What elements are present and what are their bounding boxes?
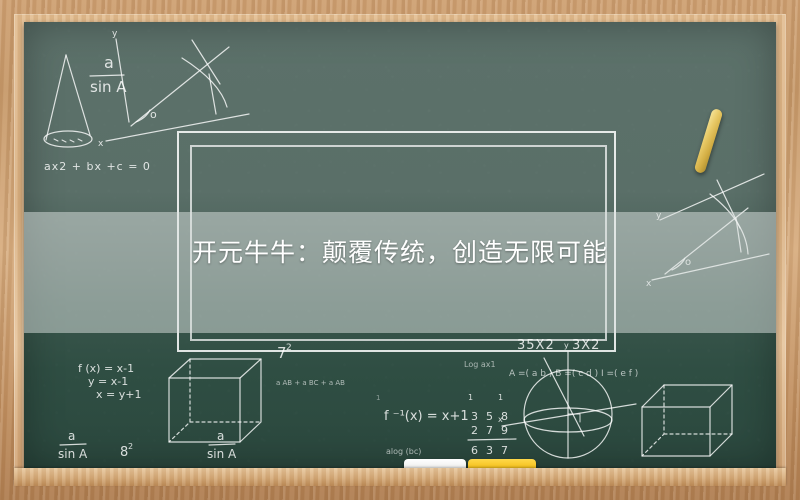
axis-label-y-top: y <box>112 29 118 39</box>
fraction3-denominator: sin A <box>207 447 237 461</box>
banner-image: a sin A ax2 + bx +c = 0 y x o <box>0 0 800 500</box>
function-line-3: x = y+1 <box>96 388 141 401</box>
fraction2-numerator: a <box>68 429 75 443</box>
log-label: Log ax1 <box>464 360 496 369</box>
small-expression: a AB + a BC + a AB <box>276 379 345 387</box>
title-container: 开元牛牛：颠覆传统，创造无限可能 <box>0 190 800 311</box>
cube-right <box>642 385 732 456</box>
svg-text:5: 5 <box>486 410 493 423</box>
angle-label-top: o <box>150 108 157 121</box>
svg-text:3: 3 <box>471 410 478 423</box>
sphere-axis-x: x <box>498 415 503 424</box>
log-expression: alog (bc) <box>386 447 421 456</box>
cone-shape <box>44 55 92 147</box>
svg-text:7: 7 <box>486 424 493 437</box>
quadratic-equation: ax2 + bx +c = 0 <box>44 160 151 173</box>
fraction-numerator-a: a <box>104 53 114 72</box>
fraction2-denominator: sin A <box>58 447 88 461</box>
matrix-notation: A =( a b ) B =( c d ) I =( e f ) <box>509 369 638 379</box>
svg-text:3: 3 <box>486 444 493 457</box>
svg-text:1: 1 <box>498 393 503 402</box>
chalk-tray-ledge <box>14 468 786 486</box>
axis-label-x-top: x <box>98 139 104 149</box>
svg-text:6: 6 <box>471 444 478 457</box>
coordinate-axes-top <box>106 39 249 141</box>
function-line-1: f (x) = x-1 <box>78 362 134 375</box>
function-line-2: y = x-1 <box>88 375 128 388</box>
svg-text:1: 1 <box>468 393 473 402</box>
fraction3-numerator: a <box>217 429 224 443</box>
inverse-function: f ⁻¹(x) = x+1 <box>384 409 469 424</box>
cube-left <box>169 359 261 442</box>
power-8-exponent: 2 <box>128 442 133 451</box>
svg-text:1: 1 <box>376 394 380 402</box>
page-title: 开元牛牛：颠覆传统，创造无限可能 <box>192 233 608 269</box>
svg-text:2: 2 <box>471 424 478 437</box>
fraction-denominator-sinA: sin A <box>90 78 127 96</box>
svg-text:7: 7 <box>501 444 508 457</box>
sphere-diagram <box>502 352 636 458</box>
